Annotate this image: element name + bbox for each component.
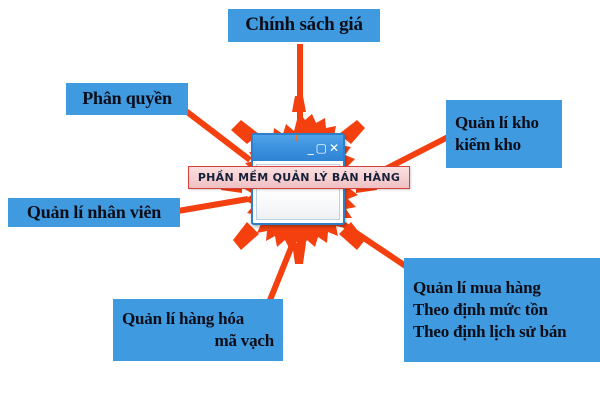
node-line: kiểm kho bbox=[455, 134, 553, 156]
maximize-icon[interactable]: ▢ bbox=[316, 142, 327, 154]
node-line: Quản lí hàng hóa bbox=[122, 308, 274, 330]
minimize-icon[interactable]: _ bbox=[308, 142, 314, 154]
node-quan-li-hang-hoa[interactable]: Quản lí hàng hóa mã vạch bbox=[113, 299, 283, 361]
node-line: Chính sách giá bbox=[236, 13, 372, 38]
node-line: Theo định lịch sử bán bbox=[413, 321, 591, 343]
node-line: Theo định mức tồn bbox=[413, 299, 591, 321]
node-line: Quản lí mua hàng bbox=[413, 277, 591, 299]
node-quan-li-mua-hang[interactable]: Quản lí mua hàng Theo định mức tồn Theo … bbox=[404, 258, 600, 362]
diagram-canvas: _ ▢ ✕ PHẦN MỀM QUẢN LÝ BÁN HÀNG Chính sá… bbox=[0, 0, 600, 409]
node-line: Quản lí kho bbox=[455, 112, 553, 134]
node-quan-li-kho[interactable]: Quản lí kho kiểm kho bbox=[446, 100, 562, 168]
node-quan-li-nhan-vien[interactable]: Quản lí nhân viên bbox=[8, 198, 180, 227]
node-chinh-sach-gia[interactable]: Chính sách giá bbox=[228, 9, 380, 42]
center-title-text: PHẦN MỀM QUẢN LÝ BÁN HÀNG bbox=[198, 171, 400, 184]
center-title-banner: PHẦN MỀM QUẢN LÝ BÁN HÀNG bbox=[188, 166, 410, 189]
node-phan-quyen[interactable]: Phân quyền bbox=[66, 83, 188, 115]
close-icon[interactable]: ✕ bbox=[329, 142, 339, 154]
node-line: mã vạch bbox=[122, 330, 274, 352]
window-titlebar: _ ▢ ✕ bbox=[253, 135, 343, 161]
node-line: Phân quyền bbox=[76, 87, 178, 110]
titlebar-marker bbox=[295, 135, 297, 141]
node-line: Quản lí nhân viên bbox=[16, 201, 172, 224]
